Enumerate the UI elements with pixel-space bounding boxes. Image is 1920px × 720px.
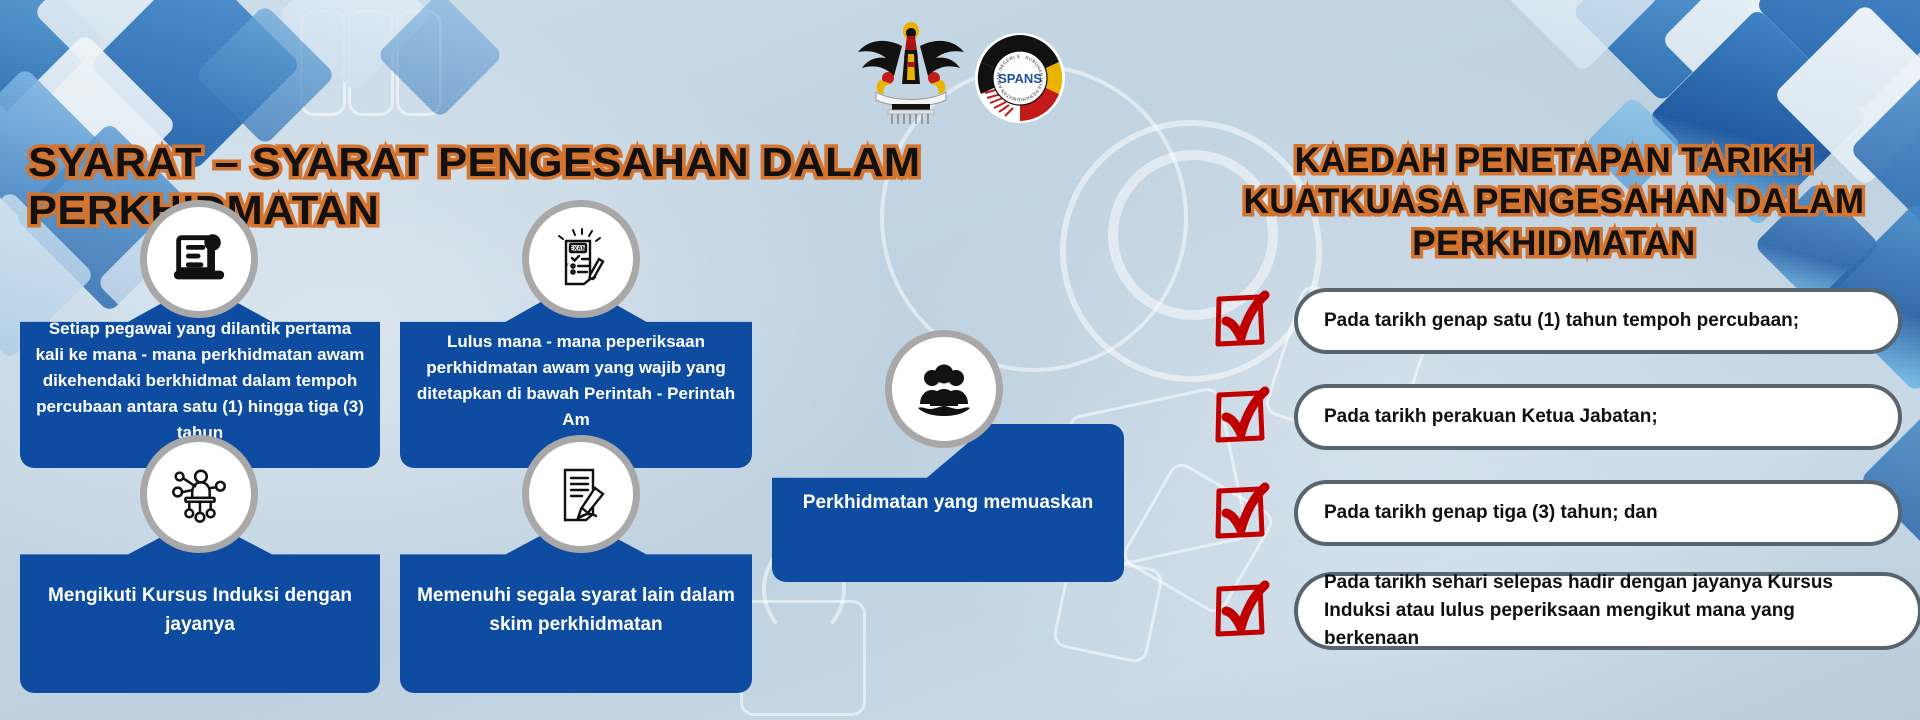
- svg-text:×: ×: [565, 262, 569, 269]
- method-row-2[interactable]: Pada tarikh perakuan Ketua Jabatan;: [1210, 384, 1902, 450]
- method-row-3[interactable]: Pada tarikh genap tiga (3) tahun; dan: [1210, 480, 1902, 546]
- condition-card-1-text: Setiap pegawai yang dilantik pertama kal…: [20, 316, 380, 445]
- right-title-line-2: KUATKUASA PENGESAHAN DALAM: [1218, 181, 1890, 222]
- decor-diamond-tr-2: [1661, 0, 1859, 139]
- decor-server-rack-2: [348, 10, 394, 116]
- decor-server-rack: [300, 10, 346, 116]
- logo-group: SPANS SURUHANJAYA PERKHIDMATAN AWAM NEGE…: [852, 4, 1102, 126]
- method-pill-4-text: Pada tarikh sehari selepas hadir dengan …: [1298, 569, 1918, 653]
- right-title-line-1: KAEDAH PENETAPAN TARIKH: [1218, 140, 1890, 181]
- method-row-1[interactable]: Pada tarikh genap satu (1) tahun tempoh …: [1210, 288, 1902, 354]
- red-checkmark-icon: [1210, 386, 1272, 448]
- decor-diamond-tl-1: [0, 0, 105, 125]
- decor-diamond-tr-3: [1755, 0, 1920, 111]
- decor-diamond-tl-2: [33, 0, 203, 97]
- method-pill-1[interactable]: Pada tarikh genap satu (1) tahun tempoh …: [1294, 288, 1902, 354]
- svg-text:EXAM: EXAM: [569, 247, 586, 253]
- svg-text:SPANS: SPANS: [998, 71, 1042, 86]
- method-pill-3-text: Pada tarikh genap tiga (3) tahun; dan: [1298, 499, 1898, 527]
- id-card-icon: [140, 200, 258, 318]
- decor-diamond-tl-8: [194, 4, 335, 145]
- method-pill-1-text: Pada tarikh genap satu (1) tahun tempoh …: [1298, 307, 1898, 335]
- decor-diamond-tr-10: [1505, 0, 1661, 73]
- condition-card-3-text: Perkhidmatan yang memuaskan: [772, 489, 1124, 518]
- red-checkmark-icon: [1210, 482, 1272, 544]
- decor-diamond-tl-11: [376, 0, 503, 119]
- condition-card-5-text: Memenuhi segala syarat lain dalam skim p…: [400, 582, 752, 640]
- training-presentation-icon: [140, 435, 258, 553]
- red-checkmark-icon: [1210, 580, 1272, 642]
- right-title-line-3: PERKHIDMATAN: [1218, 223, 1890, 264]
- decor-diamond-tl-9: [277, 0, 433, 93]
- method-pill-4[interactable]: Pada tarikh sehari selepas hadir dengan …: [1294, 572, 1920, 650]
- decor-lock-body: [740, 600, 866, 716]
- method-pill-2[interactable]: Pada tarikh perakuan Ketua Jabatan;: [1294, 384, 1902, 450]
- spans-logo: SPANS SURUHANJAYA PERKHIDMATAN AWAM NEGE…: [974, 32, 1066, 124]
- red-checkmark-icon: [1210, 290, 1272, 352]
- exam-paper-icon: EXAM ×: [522, 200, 640, 318]
- decor-diamond-tr-1: [1571, 0, 1752, 103]
- decor-server-rack-3: [396, 10, 442, 116]
- method-pill-2-text: Pada tarikh perakuan Ketua Jabatan;: [1298, 403, 1898, 431]
- people-group-icon: [885, 330, 1003, 448]
- signing-document-icon: [522, 435, 640, 553]
- method-row-4[interactable]: Pada tarikh sehari selepas hadir dengan …: [1210, 572, 1920, 650]
- condition-card-2-text: Lulus mana - mana peperiksaan perkhidmat…: [400, 329, 752, 432]
- right-panel-title: KAEDAH PENETAPAN TARIKH KUATKUASA PENGES…: [1218, 140, 1890, 264]
- sarawak-state-crest-logo: [852, 6, 970, 124]
- method-pill-3[interactable]: Pada tarikh genap tiga (3) tahun; dan: [1294, 480, 1902, 546]
- condition-card-4-text: Mengikuti Kursus Induksi dengan jayanya: [20, 582, 380, 640]
- infographic-poster: SPANS SURUHANJAYA PERKHIDMATAN AWAM NEGE…: [0, 0, 1920, 720]
